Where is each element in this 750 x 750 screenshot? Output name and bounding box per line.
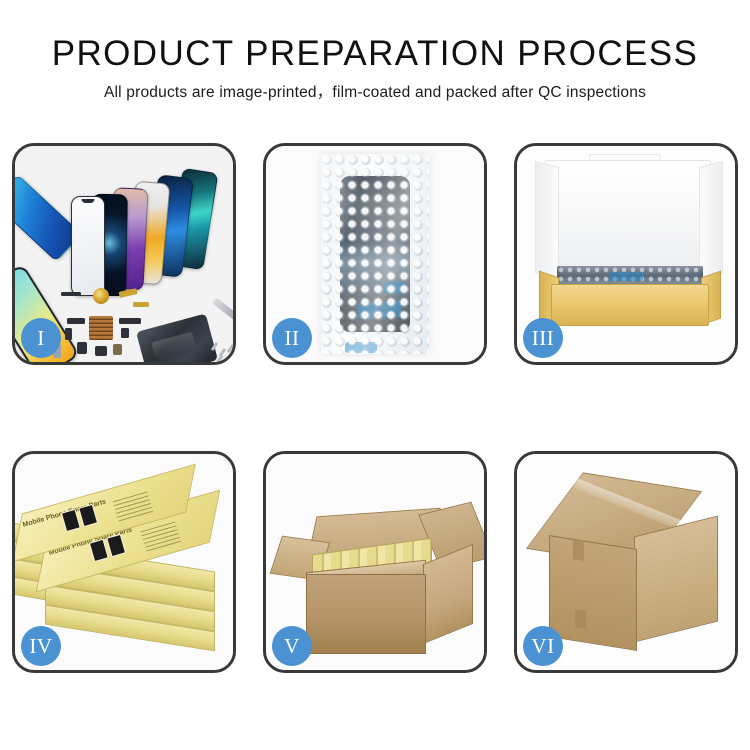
small-component-3	[113, 344, 122, 355]
process-panel-grid: I II	[12, 143, 738, 673]
box-front-panel	[551, 284, 709, 326]
panel-badge-3: III	[523, 318, 563, 358]
flex-cable-part-3	[119, 318, 141, 324]
phone-screen-glass	[71, 196, 105, 296]
flex-strip-part-1	[61, 292, 81, 296]
small-component-2	[95, 346, 107, 356]
screws-group	[213, 342, 233, 362]
connector-array-part	[89, 316, 113, 340]
screen-notch	[82, 199, 95, 203]
box-lid-flap-left	[535, 161, 559, 279]
page-title: PRODUCT PREPARATION PROCESS	[0, 34, 750, 74]
product-preparation-process-page: PRODUCT PREPARATION PROCESS All products…	[0, 0, 750, 750]
page-subtitle: All products are image-printed，film-coat…	[0, 83, 750, 103]
process-panel-2[interactable]: II	[263, 143, 487, 365]
flex-cable-part-4	[121, 328, 129, 338]
panel-badge-5: V	[272, 626, 312, 666]
process-panel-4[interactable]: Mobile Phone Spare Parts Mobile Phone Sp…	[12, 451, 236, 673]
panel-badge-2: II	[272, 318, 312, 358]
header: PRODUCT PREPARATION PROCESS All products…	[0, 34, 750, 103]
sealed-carton-front-panel	[549, 535, 637, 651]
sealed-carton-tape-mark-2	[575, 609, 586, 629]
process-panel-3[interactable]: III	[514, 143, 738, 365]
small-component-1	[77, 342, 87, 354]
process-panel-1[interactable]: I	[12, 143, 236, 365]
panel-badge-6: VI	[523, 626, 563, 666]
box-lid-flap-right	[699, 161, 723, 279]
sealed-carton-side-panel	[634, 516, 718, 643]
flex-cable-part-1	[67, 318, 85, 324]
carton-front-panel	[306, 574, 426, 654]
copper-coil-part	[93, 288, 109, 304]
panel-badge-4: IV	[21, 626, 61, 666]
sealed-carton-tape-mark-1	[573, 539, 584, 561]
flex-cable-part-2	[65, 328, 72, 340]
process-panel-6[interactable]: VI	[514, 451, 738, 673]
panel-badge-1: I	[21, 318, 61, 358]
flex-strip-part-3	[133, 302, 149, 307]
process-panel-5[interactable]: V	[263, 451, 487, 673]
bubble-gloss-highlight	[321, 154, 429, 354]
